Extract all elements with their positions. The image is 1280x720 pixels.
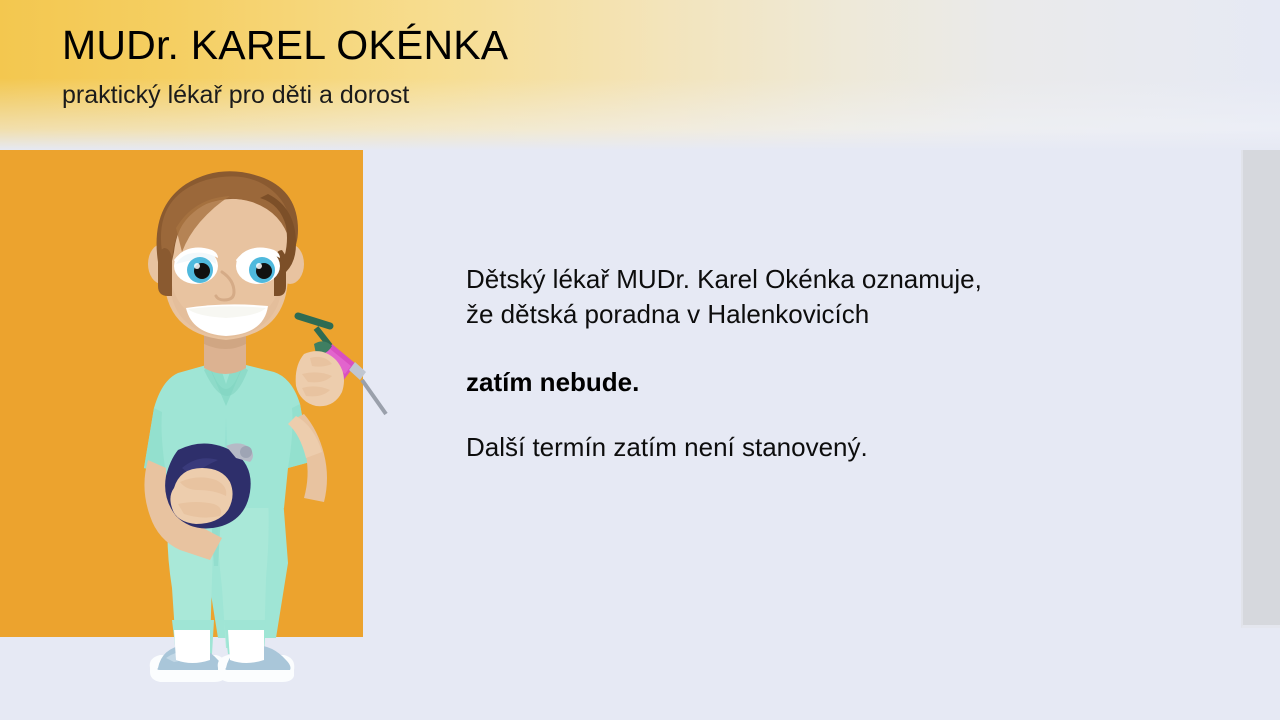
announcement-line-2: že dětská poradna v Halenkovicích [466, 297, 1166, 332]
announcement-spacer-1 [466, 332, 1166, 365]
announcement-spacer-2 [466, 400, 1166, 430]
header-banner: MUDr. KAREL OKÉNKA praktický lékař pro d… [0, 0, 1280, 150]
announcement-emphasis: zatím nebude. [466, 365, 1166, 400]
announcement-line-3: Další termín zatím není stanovený. [466, 430, 1166, 465]
announcement-line-1: Dětský lékař MUDr. Karel Okénka oznamuje… [466, 262, 1166, 297]
pediatrician-illustration [118, 168, 398, 698]
page-title: MUDr. KAREL OKÉNKA [62, 22, 508, 68]
announcement-text-block: Dětský lékař MUDr. Karel Okénka oznamuje… [466, 262, 1166, 465]
right-scrollbar-panel[interactable] [1241, 150, 1280, 628]
page-subtitle: praktický lékař pro děti a dorost [62, 80, 409, 110]
